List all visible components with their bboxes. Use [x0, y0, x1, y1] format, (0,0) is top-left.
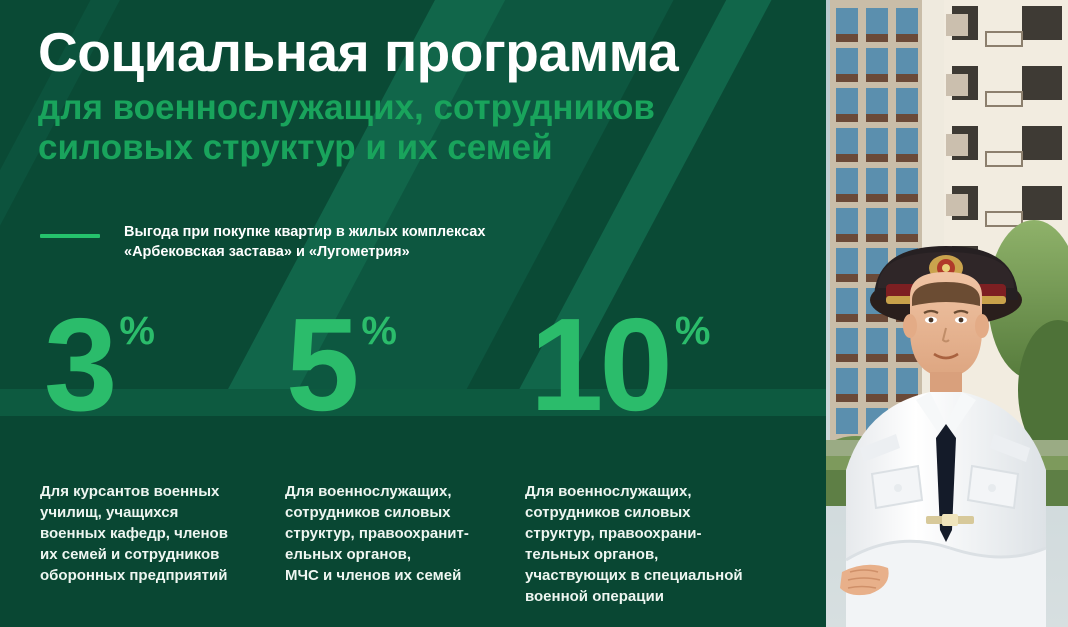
- page-subtitle: для военнослужащих, сотрудников силовых …: [38, 88, 798, 168]
- officer-photo-illustration: [826, 0, 1068, 627]
- description-line: тельных органов,: [525, 544, 815, 565]
- benefit-note-text: Выгода при покупке квартир в жилых компл…: [124, 222, 485, 262]
- percent-sign-1: %: [119, 311, 155, 351]
- description-line: сотрудников силовых: [525, 502, 815, 523]
- discount-figures: 3 % 5 % 10 %: [40, 305, 740, 445]
- description-line: сотрудников силовых: [285, 502, 515, 523]
- description-line: военной операции: [525, 586, 815, 607]
- description-line: участвующих в специальной: [525, 565, 815, 586]
- discount-figure-1: 3 %: [44, 305, 155, 425]
- description-line: МЧС и членов их семей: [285, 565, 515, 586]
- discount-figure-2: 5 %: [286, 305, 397, 425]
- page-subtitle-line-1: для военнослужащих, сотрудников: [38, 88, 798, 128]
- page-subtitle-line-2: силовых структур и их семей: [38, 128, 798, 168]
- promo-banner: Социальная программа для военнослужащих,…: [0, 0, 1068, 627]
- description-line: Для курсантов военных: [40, 481, 270, 502]
- description-line: их семей и сотрудников: [40, 544, 270, 565]
- discount-value-2: 5: [286, 305, 355, 425]
- discount-description-1: Для курсантов военных училищ, учащихся в…: [40, 481, 270, 586]
- description-line: оборонных предприятий: [40, 565, 270, 586]
- description-line: Для военнослужащих,: [285, 481, 515, 502]
- discount-value-3: 10: [530, 305, 669, 425]
- description-line: ельных органов,: [285, 544, 515, 565]
- discount-description-2: Для военнослужащих, сотрудников силовых …: [285, 481, 515, 586]
- description-line: структур, правоохрани-: [525, 523, 815, 544]
- percent-sign-2: %: [361, 311, 397, 351]
- benefit-note: Выгода при покупке квартир в жилых компл…: [40, 222, 485, 262]
- page-title: Социальная программа: [38, 22, 798, 82]
- discount-description-3: Для военнослужащих, сотрудников силовых …: [525, 481, 815, 607]
- description-line: Для военнослужащих,: [525, 481, 815, 502]
- discount-value-1: 3: [44, 305, 113, 425]
- officer-photo: [826, 0, 1068, 627]
- benefit-note-line-2: «Арбековская застава» и «Лугометрия»: [124, 242, 485, 262]
- benefit-note-line-1: Выгода при покупке квартир в жилых компл…: [124, 222, 485, 242]
- dash-icon: [40, 234, 100, 238]
- headline-block: Социальная программа для военнослужащих,…: [38, 22, 798, 168]
- discount-figure-3: 10 %: [530, 305, 710, 425]
- description-line: структур, правоохранит-: [285, 523, 515, 544]
- description-line: училищ, учащихся: [40, 502, 270, 523]
- description-line: военных кафедр, членов: [40, 523, 270, 544]
- percent-sign-3: %: [675, 311, 711, 351]
